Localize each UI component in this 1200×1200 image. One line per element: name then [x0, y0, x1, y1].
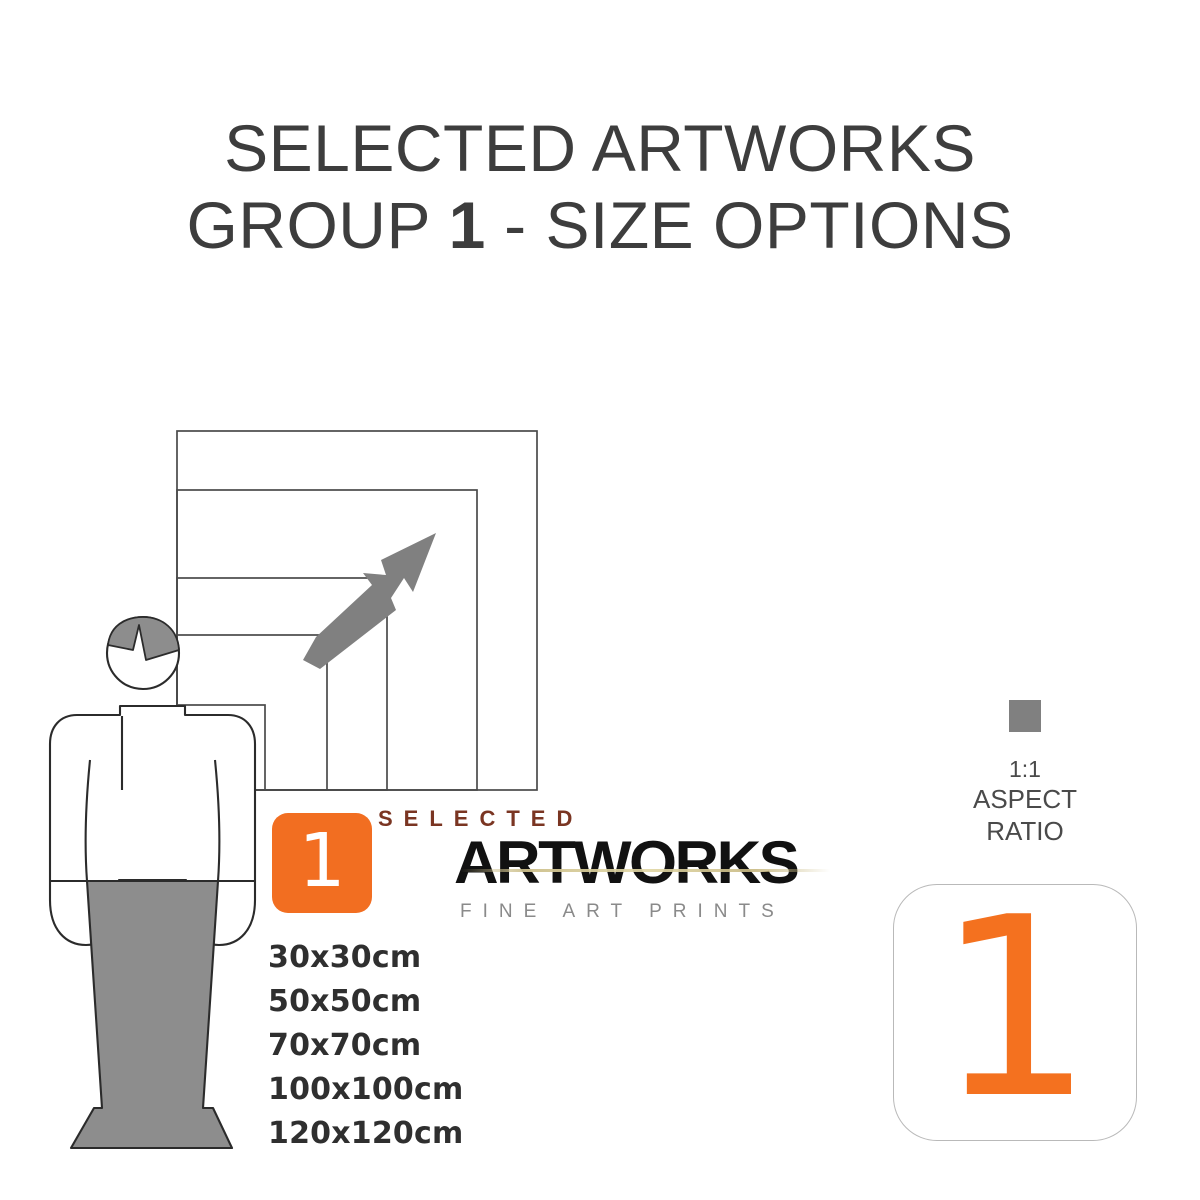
- title-line-2-suffix: - SIZE OPTIONS: [485, 188, 1013, 262]
- page-title: SELECTED ARTWORKS GROUP 1 - SIZE OPTIONS: [0, 110, 1200, 263]
- title-group-number: 1: [449, 188, 486, 262]
- title-line-2: GROUP 1 - SIZE OPTIONS: [0, 187, 1200, 264]
- square-30x30: [177, 705, 265, 790]
- aspect-ratio-value: 1:1: [930, 754, 1120, 784]
- figure-hair: [108, 617, 179, 660]
- figure-trousers: [71, 881, 232, 1148]
- nested-size-squares: [177, 431, 537, 790]
- figure-torso-right-seam: [215, 760, 219, 881]
- brand-artworks-text: ARTWORKS: [454, 828, 797, 897]
- size-option-5: 120x120cm: [268, 1112, 463, 1156]
- aspect-ratio-swatch-icon: [1009, 700, 1041, 732]
- size-option-4: 100x100cm: [268, 1068, 463, 1112]
- growth-arrow-icon: [303, 533, 436, 669]
- square-70x70: [177, 578, 387, 790]
- figure-head: [107, 617, 179, 689]
- aspect-ratio-panel: 1:1 ASPECT RATIO: [930, 700, 1120, 848]
- title-line-1: SELECTED ARTWORKS: [0, 110, 1200, 187]
- figure-shirt: [50, 706, 255, 945]
- brand-badge: 1: [272, 813, 372, 913]
- group-number-tile-value: 1: [936, 885, 1094, 1133]
- brand-tagline: FINE ART PRINTS: [460, 901, 785, 923]
- group-number-tile: 1: [893, 884, 1137, 1141]
- poster-canvas: SELECTED ARTWORKS GROUP 1 - SIZE OPTIONS: [0, 0, 1200, 1200]
- square-50x50: [177, 635, 327, 790]
- title-line-2-prefix: GROUP: [186, 188, 448, 262]
- human-scale-figure: [50, 617, 255, 1148]
- figure-torso-left-seam: [86, 760, 90, 881]
- square-100x100: [177, 490, 477, 790]
- size-option-2: 50x50cm: [268, 980, 463, 1024]
- aspect-ratio-label-line1: ASPECT: [930, 784, 1120, 816]
- square-120x120: [177, 431, 537, 790]
- brand-logo: SELECTED ARTWORKS FINE ART PRINTS: [378, 806, 838, 926]
- size-options-list: 30x30cm 50x50cm 70x70cm 100x100cm 120x12…: [268, 936, 463, 1156]
- aspect-ratio-label-line2: RATIO: [930, 816, 1120, 848]
- brand-badge-number: 1: [298, 824, 345, 898]
- size-option-3: 70x70cm: [268, 1024, 463, 1068]
- brand-streak-decoration: [460, 869, 830, 872]
- size-option-1: 30x30cm: [268, 936, 463, 980]
